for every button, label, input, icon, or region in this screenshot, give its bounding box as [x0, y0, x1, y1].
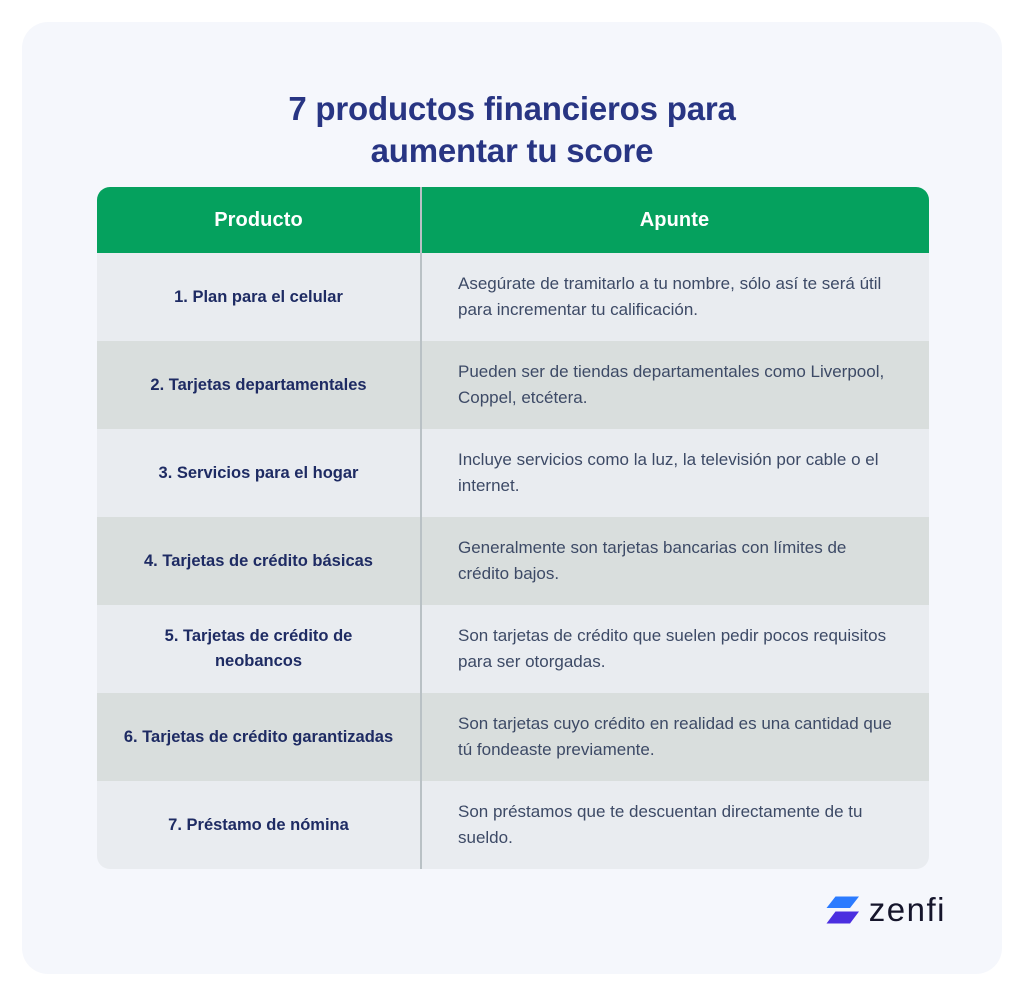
- cell-producto: 1. Plan para el celular: [97, 253, 420, 341]
- cell-producto: 4. Tarjetas de crédito básicas: [97, 517, 420, 605]
- cell-producto: 2. Tarjetas departamentales: [97, 341, 420, 429]
- cell-producto: 7. Préstamo de nómina: [97, 781, 420, 869]
- page-root: 7 productos financieros para aumentar tu…: [0, 0, 1024, 996]
- cell-producto: 6. Tarjetas de crédito garantizadas: [97, 693, 420, 781]
- cell-apunte: Pueden ser de tiendas departamentales co…: [420, 341, 929, 429]
- cell-apunte: Son tarjetas cuyo crédito en realidad es…: [420, 693, 929, 781]
- products-table: Producto Apunte 1. Plan para el celular …: [97, 187, 929, 869]
- table-row: 2. Tarjetas departamentales Pueden ser d…: [97, 341, 929, 429]
- table-header-row: Producto Apunte: [97, 187, 929, 253]
- table-row: 7. Préstamo de nómina Son préstamos que …: [97, 781, 929, 869]
- table-row: 6. Tarjetas de crédito garantizadas Son …: [97, 693, 929, 781]
- page-title: 7 productos financieros para aumentar tu…: [22, 88, 1002, 172]
- table-row: 5. Tarjetas de crédito de neobancos Son …: [97, 605, 929, 693]
- zenfi-logo-icon: [826, 895, 860, 925]
- table-row: 3. Servicios para el hogar Incluye servi…: [97, 429, 929, 517]
- zenfi-wordmark: zenfi: [869, 893, 946, 926]
- cell-producto: 5. Tarjetas de crédito de neobancos: [97, 605, 420, 693]
- content-card: 7 productos financieros para aumentar tu…: [22, 22, 1002, 974]
- cell-apunte: Son tarjetas de crédito que suelen pedir…: [420, 605, 929, 693]
- cell-apunte: Son préstamos que te descuentan directam…: [420, 781, 929, 869]
- cell-apunte: Asegúrate de tramitarlo a tu nombre, sól…: [420, 253, 929, 341]
- cell-apunte: Generalmente son tarjetas bancarias con …: [420, 517, 929, 605]
- cell-apunte: Incluye servicios como la luz, la televi…: [420, 429, 929, 517]
- zenfi-logo: zenfi: [826, 893, 946, 926]
- column-header-apunte: Apunte: [420, 187, 929, 253]
- table-row: 1. Plan para el celular Asegúrate de tra…: [97, 253, 929, 341]
- column-header-producto: Producto: [97, 187, 420, 253]
- cell-producto: 3. Servicios para el hogar: [97, 429, 420, 517]
- table-row: 4. Tarjetas de crédito básicas Generalme…: [97, 517, 929, 605]
